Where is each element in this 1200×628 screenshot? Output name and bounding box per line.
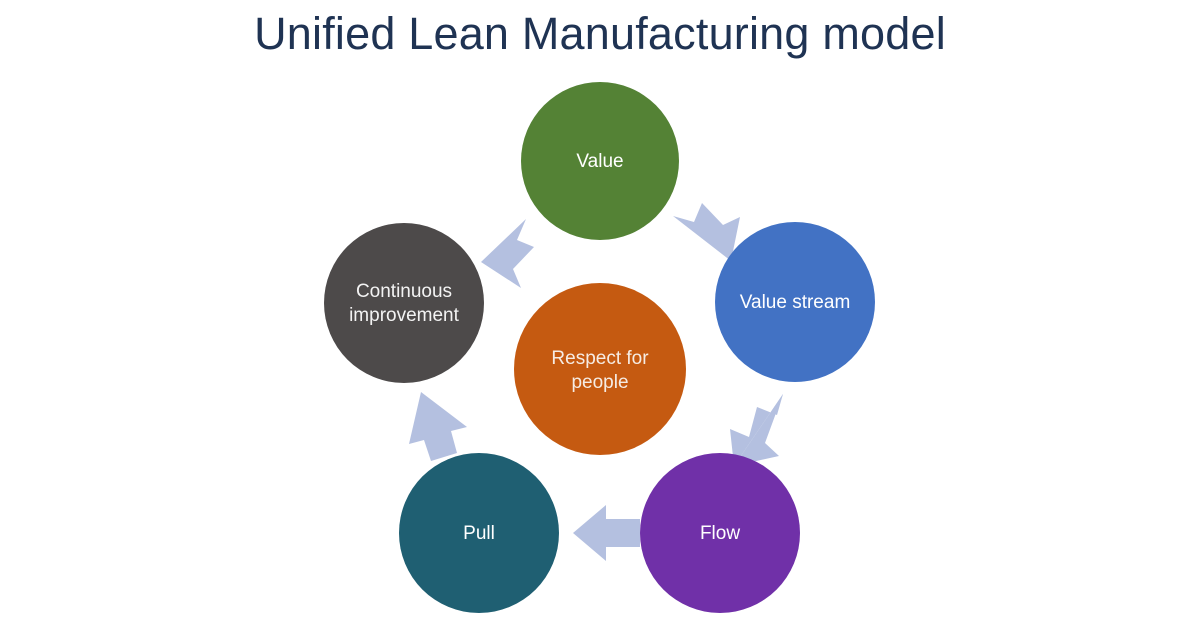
node-value-stream-label: Value stream bbox=[740, 292, 851, 313]
node-continuous-improvement-label-line1: Continuous bbox=[356, 281, 452, 302]
node-continuous-improvement-label-line2: improvement bbox=[349, 305, 460, 326]
node-flow[interactable]: Flow bbox=[640, 453, 800, 613]
arrow-continuous-improvement-to-value bbox=[481, 219, 534, 288]
node-continuous-improvement-circle[interactable] bbox=[324, 223, 484, 383]
slide-canvas: Unified Lean Manufacturing model Value bbox=[0, 0, 1200, 628]
arrow-flow-to-pull bbox=[573, 505, 640, 561]
node-flow-label: Flow bbox=[700, 523, 740, 544]
arrow-value-to-value-stream bbox=[673, 203, 740, 261]
node-pull[interactable]: Pull bbox=[399, 453, 559, 613]
node-respect-for-people-label-line1: Respect for bbox=[551, 348, 649, 369]
node-value[interactable]: Value bbox=[521, 82, 679, 240]
node-continuous-improvement[interactable]: Continuous improvement bbox=[324, 223, 484, 383]
node-pull-label: Pull bbox=[463, 523, 495, 544]
lean-cycle-diagram: Value Value stream Flow Pull Continuous … bbox=[0, 0, 1200, 628]
arrow-pull-to-continuous-improvement bbox=[409, 392, 467, 461]
node-respect-for-people-label-line2: people bbox=[571, 372, 628, 393]
node-value-label: Value bbox=[576, 151, 623, 172]
node-value-stream[interactable]: Value stream bbox=[715, 222, 875, 382]
node-respect-for-people[interactable]: Respect for people bbox=[514, 283, 686, 455]
